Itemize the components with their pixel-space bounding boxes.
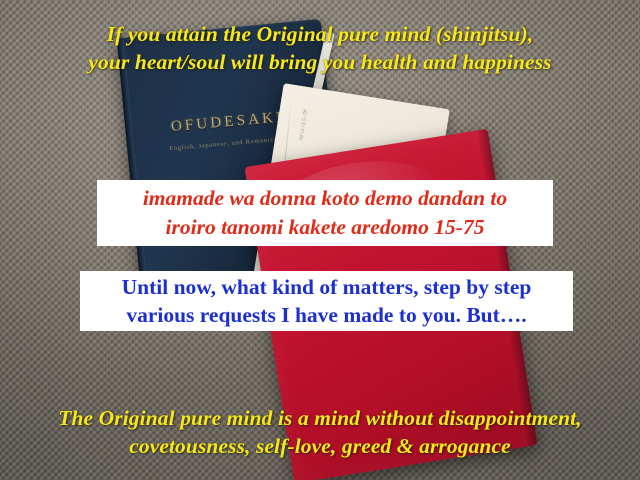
romaji-textbox: imamade wa donna koto demo dandan to iro… <box>97 180 553 246</box>
slide-canvas: OFUDESAKI English, Japanese, and Romaniz… <box>0 0 640 480</box>
english-line-1: Until now, what kind of matters, step by… <box>80 273 573 301</box>
english-textbox: Until now, what kind of matters, step by… <box>80 271 573 331</box>
caption-bottom: The Original pure mind is a mind without… <box>0 404 640 460</box>
caption-top: If you attain the Original pure mind (sh… <box>0 20 640 76</box>
romaji-line-1: imamade wa donna koto demo dandan to <box>97 184 553 213</box>
english-line-2: various requests I have made to you. But… <box>80 301 573 329</box>
romaji-line-2: iroiro tanomi kakete aredomo 15-75 <box>97 213 553 242</box>
